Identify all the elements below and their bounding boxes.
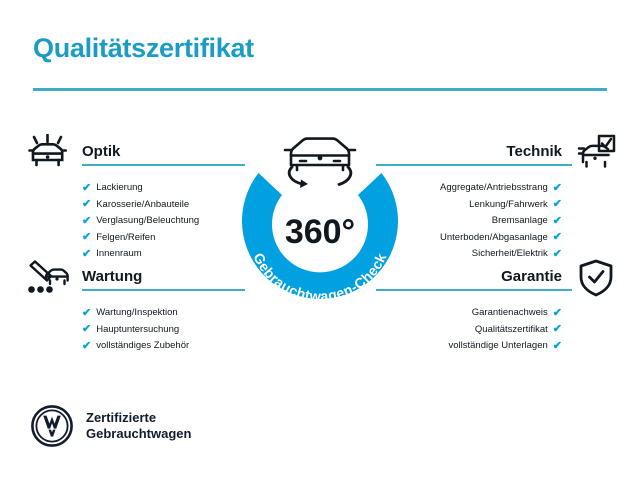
list-item: Aggregate/Antriebsstrang✔ <box>400 180 562 197</box>
list-item: ✔Lackierung <box>82 180 244 197</box>
list-item: Unterboden/Abgasanlage✔ <box>400 230 562 247</box>
list-item-label: Bremsanlage <box>492 213 548 230</box>
badge-360-gebrauchtwagen-check: 360° Gebrauchtwagen-Check <box>228 117 412 309</box>
car-wash-sparkle-icon <box>24 133 72 173</box>
page-title: Qualitätszertifikat <box>33 33 254 64</box>
section-underline <box>82 164 245 166</box>
list-item-label: Garantienachweis <box>472 305 548 322</box>
list-item: vollständige Unterlagen✔ <box>400 338 562 355</box>
wrench-car-icon <box>24 258 72 298</box>
list-item-label: Karosserie/Anbauteile <box>96 197 189 214</box>
list-item-label: Unterboden/Abgasanlage <box>440 230 548 247</box>
list-item: ✔Felgen/Reifen <box>82 230 244 247</box>
check-icon: ✔ <box>553 183 562 194</box>
footer-line-2: Gebrauchtwagen <box>86 426 191 442</box>
shield-check-icon <box>572 258 620 298</box>
list-item-label: Lenkung/Fahrwerk <box>469 197 548 214</box>
list-item-label: Felgen/Reifen <box>96 230 155 247</box>
rotate-arrow-left <box>289 167 302 184</box>
check-icon: ✔ <box>553 232 562 243</box>
list-item-label: Hauptuntersuchung <box>96 322 179 339</box>
car-checkbox-icon <box>572 133 620 173</box>
check-icon: ✔ <box>553 308 562 319</box>
list-item: Qualitätszertifikat✔ <box>400 322 562 339</box>
check-icon: ✔ <box>82 199 91 210</box>
check-icon: ✔ <box>82 183 91 194</box>
check-icon: ✔ <box>553 341 562 352</box>
list-item: Bremsanlage✔ <box>400 213 562 230</box>
badge-center-label: 360° <box>285 213 355 251</box>
checklist-wartung: ✔Wartung/Inspektion ✔Hauptuntersuchung ✔… <box>24 305 244 355</box>
checklist-garantie: Garantienachweis✔ Qualitätszertifikat✔ v… <box>400 305 620 355</box>
list-item: ✔Karosserie/Anbauteile <box>82 197 244 214</box>
check-icon: ✔ <box>82 308 91 319</box>
check-icon: ✔ <box>553 199 562 210</box>
certificate-page: Qualitätszertifikat <box>0 0 640 480</box>
car-rotate-360-icon <box>285 139 355 170</box>
checklist-optik: ✔Lackierung ✔Karosserie/Anbauteile ✔Verg… <box>24 180 244 263</box>
list-item-label: Wartung/Inspektion <box>96 305 178 322</box>
list-item: ✔Hauptuntersuchung <box>82 322 244 339</box>
section-underline <box>82 289 245 291</box>
list-item: Lenkung/Fahrwerk✔ <box>400 197 562 214</box>
list-item-label: Qualitätszertifikat <box>475 322 548 339</box>
section-garantie: Garantie Garantienachweis✔ Qualitätszert… <box>400 258 620 355</box>
check-icon: ✔ <box>553 324 562 335</box>
list-item-label: vollständige Unterlagen <box>448 338 547 355</box>
title-divider <box>33 88 607 91</box>
section-technik: Technik <box>400 133 620 263</box>
section-title: Optik <box>82 143 245 161</box>
vw-logo <box>30 404 74 448</box>
list-item: Garantienachweis✔ <box>400 305 562 322</box>
list-item-label: Lackierung <box>96 180 142 197</box>
check-icon: ✔ <box>553 216 562 227</box>
list-item-label: vollständiges Zubehör <box>96 338 189 355</box>
check-icon: ✔ <box>82 216 91 227</box>
list-item: ✔vollständiges Zubehör <box>82 338 244 355</box>
footer-line-1: Zertifizierte <box>86 410 191 426</box>
list-item-label: Aggregate/Antriebsstrang <box>440 180 548 197</box>
rotate-arrow-right <box>339 167 351 185</box>
check-icon: ✔ <box>82 232 91 243</box>
footer-brand-lockup: Zertifizierte Gebrauchtwagen <box>30 404 191 448</box>
checklist-technik: Aggregate/Antriebsstrang✔ Lenkung/Fahrwe… <box>400 180 620 263</box>
check-icon: ✔ <box>82 341 91 352</box>
section-wartung: Wartung ✔Wartung/Inspektion ✔Hauptunters… <box>24 258 244 355</box>
footer-text: Zertifizierte Gebrauchtwagen <box>86 410 191 442</box>
list-item-label: Verglasung/Beleuchtung <box>96 213 199 230</box>
section-optik: Optik ✔Lackierung ✔Karosserie/Anbauteile… <box>24 133 244 263</box>
list-item: ✔Verglasung/Beleuchtung <box>82 213 244 230</box>
section-title: Wartung <box>82 268 245 286</box>
list-item: ✔Wartung/Inspektion <box>82 305 244 322</box>
check-icon: ✔ <box>82 324 91 335</box>
